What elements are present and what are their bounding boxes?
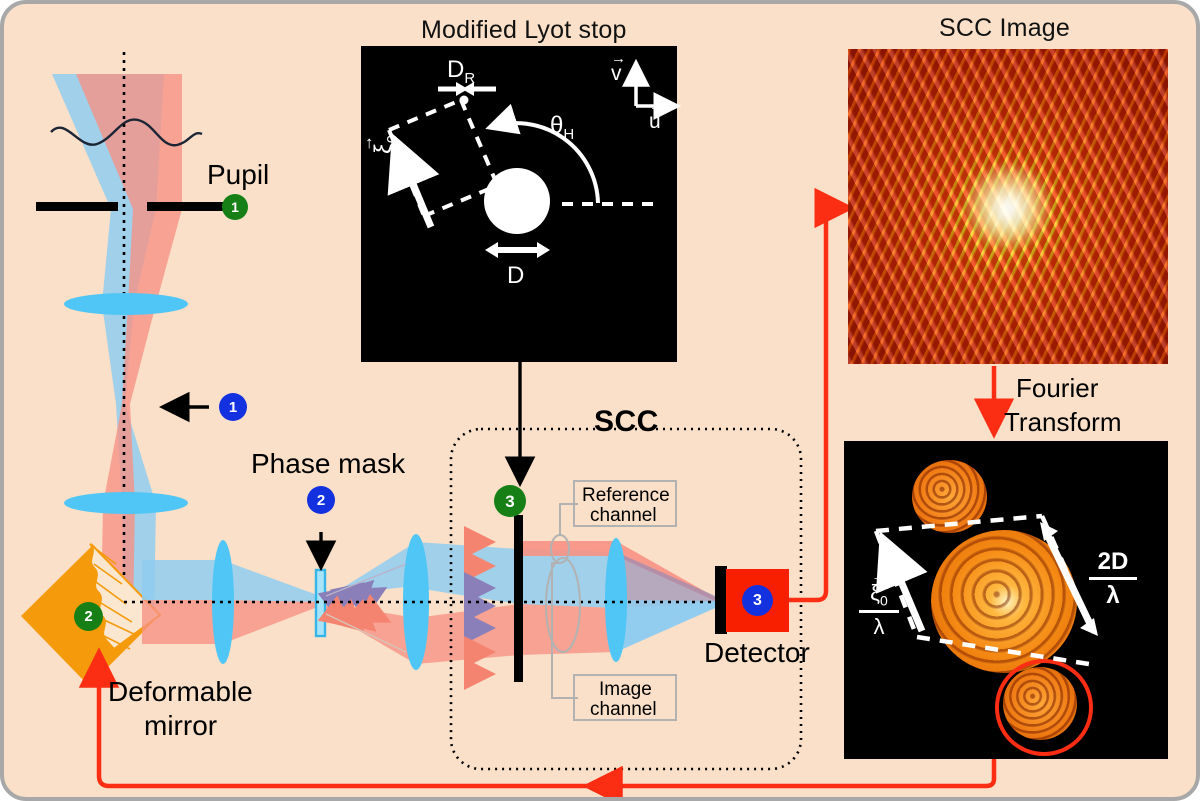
deformable-mirror-label-1: Deformable <box>108 676 253 708</box>
phase-mask-badge: 2 <box>307 486 335 514</box>
ft-2d-label: 2D λ <box>1089 549 1137 608</box>
reference-channel-label-1: Reference <box>582 485 670 507</box>
reference-channel-label-2: channel <box>590 505 657 527</box>
fourier-label-1: Fourier <box>1016 373 1098 404</box>
lyot-panel-title: Modified Lyot stop <box>421 16 627 45</box>
lyot-axis-u-label: → u <box>649 110 661 134</box>
ft-xi-label: → ξ0 λ <box>859 569 899 638</box>
deformable-mirror-badge: 2 <box>74 602 103 631</box>
pupil-label: Pupil <box>207 159 269 191</box>
lyot-xi-label: → ξ0 <box>370 135 401 154</box>
ft-central-peak <box>931 530 1077 673</box>
deformable-mirror-label-2: mirror <box>144 710 217 742</box>
scc-image-title: SCC Image <box>939 14 1070 43</box>
lyot-theta-label: θH <box>550 112 574 143</box>
image-channel-label-2: channel <box>590 699 657 721</box>
lyot-dr-label: DR <box>447 56 475 87</box>
image-channel-label-1: Image <box>599 679 652 701</box>
lyot-panel <box>361 46 677 362</box>
lyot-badge: 3 <box>494 485 526 517</box>
scc-group-label: SCC <box>594 405 659 439</box>
ft-sideband-highlight-ring <box>995 659 1094 756</box>
lens-2 <box>64 492 188 514</box>
figure-root: Pupil 1 1 Phase mask 2 3 2 Deformable mi… <box>0 0 1200 801</box>
pupil-badge: 1 <box>222 194 248 220</box>
scc-image-panel <box>848 49 1168 364</box>
detector-badge: 3 <box>742 585 773 616</box>
lens-1 <box>64 293 188 315</box>
lyot-axis-v-label: → v <box>611 62 622 86</box>
scc-image-core <box>963 162 1053 250</box>
step1-badge: 1 <box>219 393 247 421</box>
fourier-label-2: Transform <box>1004 407 1122 438</box>
lens-5 <box>605 538 627 662</box>
phase-mask-label: Phase mask <box>251 448 405 480</box>
lyot-d-label: D <box>507 262 524 290</box>
detector-label: Detector <box>704 637 810 669</box>
ft-sideband-top <box>912 460 987 533</box>
beam-vertical <box>52 74 182 618</box>
lyot-stop-bar <box>514 515 523 682</box>
